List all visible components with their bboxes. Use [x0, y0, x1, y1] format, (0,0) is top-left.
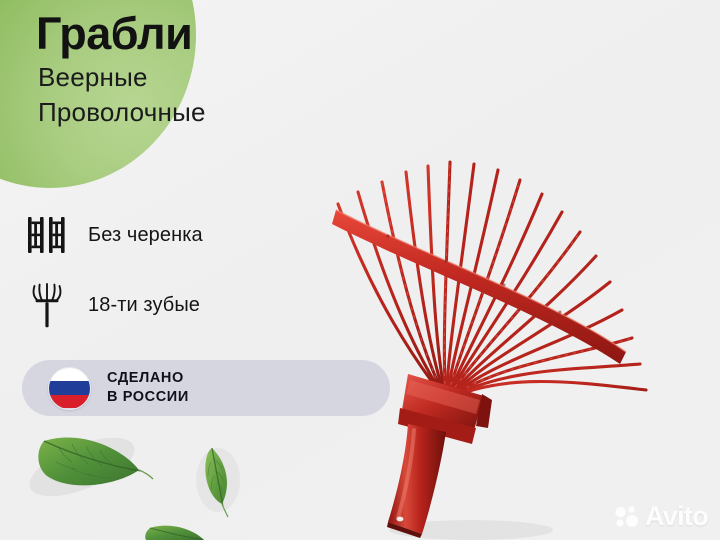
red-fan-rake-photo-icon	[296, 138, 696, 540]
fan-rake-icon	[24, 282, 70, 328]
asl-striped-wordmark-icon	[492, 28, 664, 90]
headline-subtitle-1: Веерные	[38, 62, 366, 94]
asl-logo	[492, 28, 664, 90]
avito-dots-icon	[614, 504, 640, 530]
made-in-line-2: В РОССИИ	[107, 388, 189, 407]
product-ad-canvas: Грабли Веерные Проволочные	[0, 0, 720, 540]
headline-block: Грабли Веерные Проволочные	[36, 10, 366, 129]
feature-row-teeth: 18-ти зубые	[24, 282, 200, 328]
rake-handle-icon	[24, 212, 70, 258]
feature-label-teeth: 18-ти зубые	[88, 294, 200, 317]
avito-wordmark: Avito	[645, 503, 708, 530]
feature-row-no-handle: Без черенка	[24, 212, 203, 258]
avito-watermark: Avito	[614, 503, 708, 530]
green-leaves-decor	[0, 422, 310, 540]
page-title: Грабли	[36, 10, 366, 58]
headline-subtitle-2: Проволочные	[38, 97, 366, 129]
product-image-fan-rake	[296, 138, 696, 540]
feature-label-no-handle: Без черенка	[88, 224, 203, 247]
green-leaves-icon	[0, 422, 310, 540]
russian-flag-circle-icon	[48, 367, 91, 410]
made-in-russia-text: СДЕЛАНО В РОССИИ	[107, 369, 189, 407]
made-in-line-1: СДЕЛАНО	[107, 369, 189, 388]
